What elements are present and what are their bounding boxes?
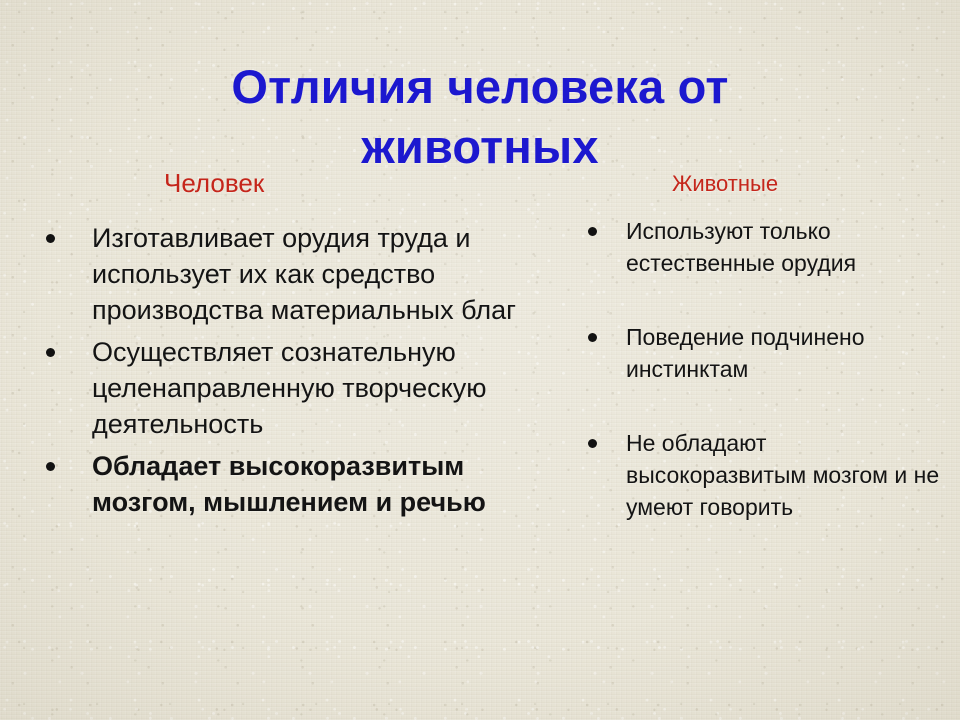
bullet-dot-icon — [588, 227, 597, 236]
bullet-dot-icon — [588, 439, 597, 448]
bullet-dot-icon — [46, 348, 55, 357]
comparison-columns: Человек Изготавливает орудия труда и исп… — [0, 160, 960, 720]
list-item-text: Изготавливает орудия труда и использует … — [92, 220, 546, 328]
list-item-text: Используют только естественные орудия — [626, 215, 940, 279]
slide-title-line-1: Отличия человека от — [0, 57, 960, 117]
list-item-text: Осуществляет сознательную целенаправленн… — [92, 334, 546, 442]
list-item: Используют только естественные орудия — [580, 215, 940, 279]
column-human-heading: Человек — [164, 168, 546, 198]
list-item: Обладает высокоразвитым мозгом, мышление… — [46, 448, 546, 520]
column-human: Человек Изготавливает орудия труда и исп… — [46, 160, 546, 526]
bullet-dot-icon — [46, 234, 55, 243]
bullet-dot-icon — [46, 462, 55, 471]
list-item: Осуществляет сознательную целенаправленн… — [46, 334, 546, 442]
list-item-text: Не обладают высокоразвитым мозгом и не у… — [626, 427, 940, 523]
column-animal-heading: Животные — [672, 171, 940, 197]
column-human-bullet-list: Изготавливает орудия труда и использует … — [46, 220, 546, 520]
list-item-text: Поведение подчинено инстинктам — [626, 321, 940, 385]
column-animal: Животные Используют только естественные … — [580, 160, 940, 565]
presentation-slide: Отличия человека от животных Человек Изг… — [0, 0, 960, 720]
list-item: Не обладают высокоразвитым мозгом и не у… — [580, 427, 940, 523]
bullet-dot-icon — [588, 333, 597, 342]
column-animal-bullet-list: Используют только естественные орудия По… — [580, 215, 940, 523]
list-item: Изготавливает орудия труда и использует … — [46, 220, 546, 328]
list-item: Поведение подчинено инстинктам — [580, 321, 940, 385]
list-item-text: Обладает высокоразвитым мозгом, мышление… — [92, 448, 546, 520]
